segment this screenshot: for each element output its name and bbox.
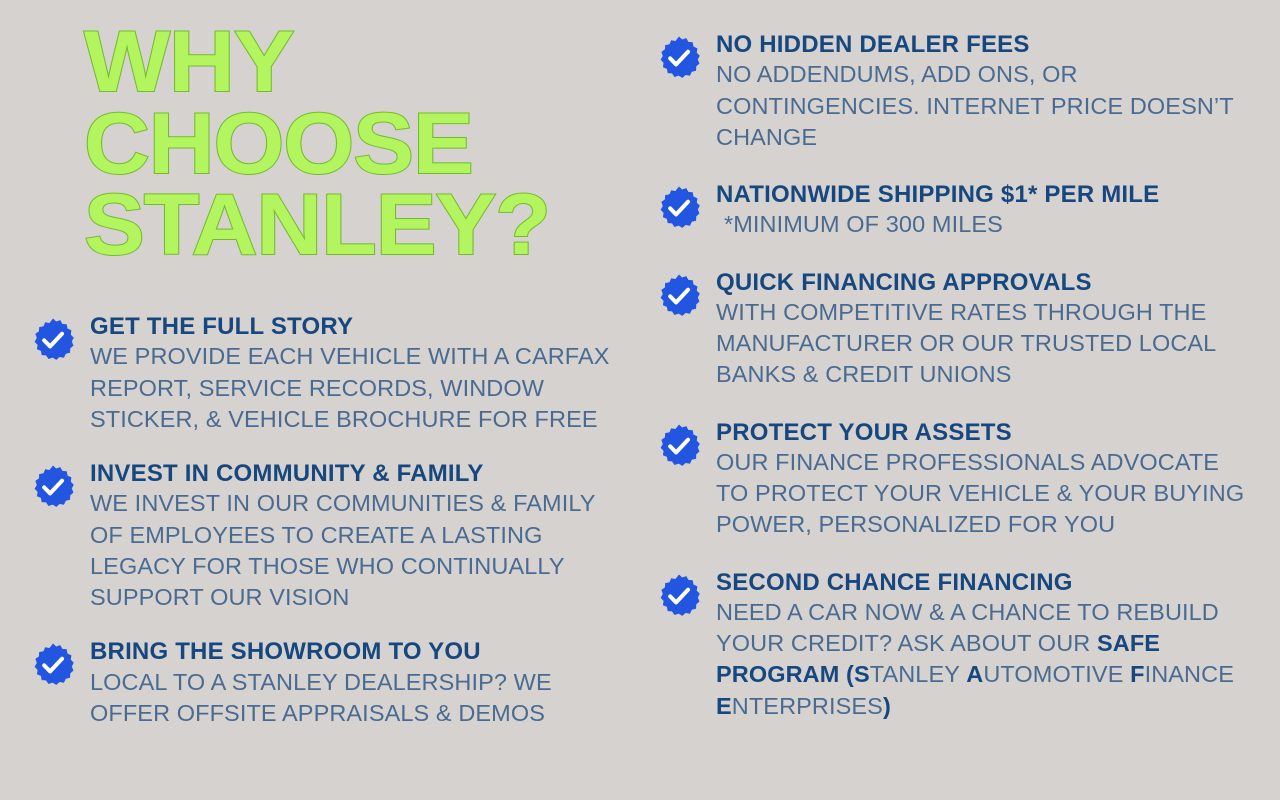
list-item: BRING THE SHOWROOM TO YOU LOCAL TO A STA… [30, 637, 610, 729]
poster-canvas: WHY CHOOSE STANLEY? GET THE FULL STORY W… [0, 0, 1280, 800]
check-badge-icon [30, 464, 76, 510]
feature-body-rich: NEED A CAR NOW & A CHANCE TO REBUILD YOU… [716, 597, 1256, 722]
feature-title: INVEST IN COMMUNITY & FAMILY [90, 459, 610, 488]
feature-body: WITH COMPETITIVE RATES THROUGH THE MANUF… [716, 297, 1256, 391]
feature-body: WE INVEST IN OUR COMMUNITIES & FAMILY OF… [90, 488, 610, 613]
left-feature-list: GET THE FULL STORY WE PROVIDE EACH VEHIC… [30, 312, 610, 753]
check-badge-icon [656, 273, 702, 319]
right-feature-list: NO HIDDEN DEALER FEES NO ADDENDUMS, ADD … [656, 30, 1256, 749]
check-badge-icon [656, 35, 702, 81]
check-badge-icon [656, 185, 702, 231]
left-column: WHY CHOOSE STANLEY? GET THE FULL STORY W… [0, 0, 640, 800]
list-item: INVEST IN COMMUNITY & FAMILY WE INVEST I… [30, 459, 610, 613]
list-item: QUICK FINANCING APPROVALS WITH COMPETITI… [656, 268, 1256, 391]
list-item: NO HIDDEN DEALER FEES NO ADDENDUMS, ADD … [656, 30, 1256, 153]
check-badge-icon [30, 642, 76, 688]
feature-title: QUICK FINANCING APPROVALS [716, 268, 1256, 297]
feature-body: OUR FINANCE PROFESSIONALS ADVOCATE TO PR… [716, 447, 1256, 541]
feature-title: NATIONWIDE SHIPPING $1* PER MILE [716, 180, 1256, 209]
list-item: SECOND CHANCE FINANCING NEED A CAR NOW &… [656, 568, 1256, 722]
feature-body: NO ADDENDUMS, ADD ONS, OR CONTINGENCIES.… [716, 59, 1256, 153]
check-badge-icon [656, 573, 702, 619]
list-item: GET THE FULL STORY WE PROVIDE EACH VEHIC… [30, 312, 610, 435]
feature-title: NO HIDDEN DEALER FEES [716, 30, 1256, 59]
check-badge-icon [30, 317, 76, 363]
check-badge-icon [656, 423, 702, 469]
feature-body: WE PROVIDE EACH VEHICLE WITH A CARFAX RE… [90, 341, 610, 435]
feature-title: BRING THE SHOWROOM TO YOU [90, 637, 610, 666]
feature-title: SECOND CHANCE FINANCING [716, 568, 1256, 597]
feature-title: GET THE FULL STORY [90, 312, 610, 341]
list-item: PROTECT YOUR ASSETS OUR FINANCE PROFESSI… [656, 418, 1256, 541]
page-title: WHY CHOOSE STANLEY? [84, 22, 635, 267]
feature-title: PROTECT YOUR ASSETS [716, 418, 1256, 447]
list-item: NATIONWIDE SHIPPING $1* PER MILE *MINIMU… [656, 180, 1256, 241]
feature-body: *MINIMUM OF 300 MILES [716, 209, 1256, 240]
feature-body: LOCAL TO A STANLEY DEALERSHIP? WE OFFER … [90, 667, 610, 730]
